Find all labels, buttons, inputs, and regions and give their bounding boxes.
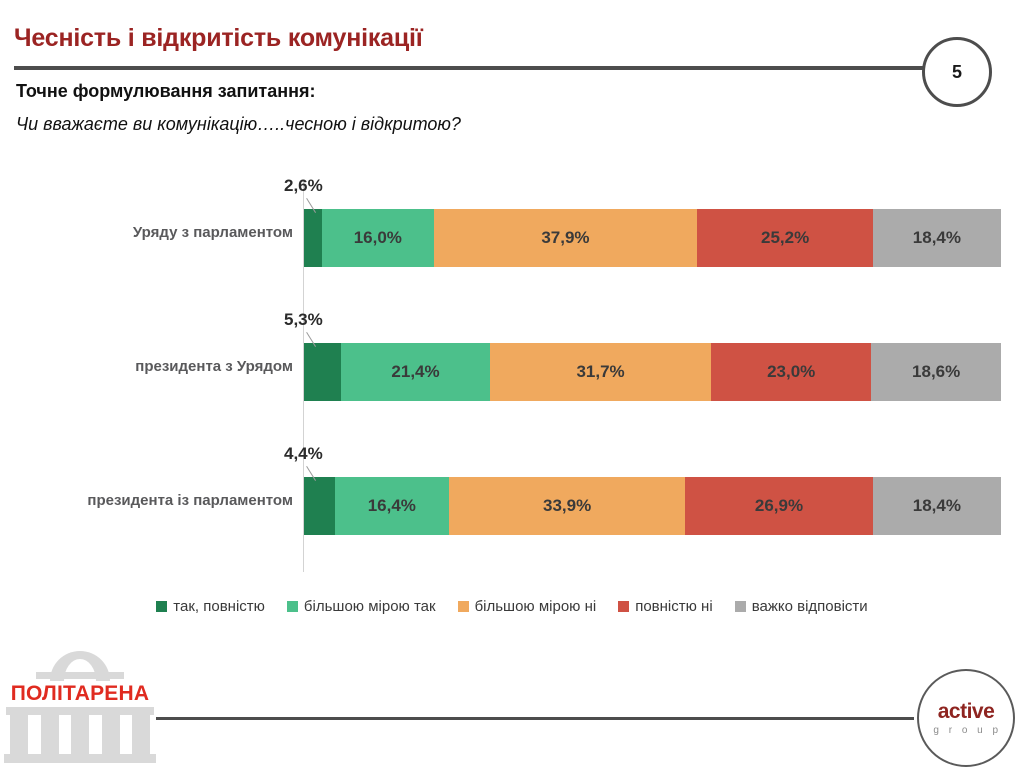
parliament-columns-icon xyxy=(10,715,150,755)
legend-label: більшою мірою ні xyxy=(475,598,597,615)
bar-row: президента з Урядом5,3%21,4%31,7%23,0%18… xyxy=(0,302,1024,436)
bar-segment: 18,6% xyxy=(871,343,1001,401)
bar-segment: 33,9% xyxy=(449,477,685,535)
bar-track: 5,3%21,4%31,7%23,0%18,6% xyxy=(304,343,1001,401)
bar-segment: 2,6% xyxy=(304,209,322,267)
page-number-badge: 5 xyxy=(922,37,992,107)
bar-category-label: президента з Урядом xyxy=(13,358,293,375)
parliament-architrave-icon xyxy=(6,707,154,715)
parliament-dome-base-icon xyxy=(36,672,124,679)
bar-callout-leader-line xyxy=(307,332,319,344)
parliament-base-icon xyxy=(4,754,156,763)
stacked-bar-chart: Уряду з парламентом2,6%16,0%37,9%25,2%18… xyxy=(0,168,1024,588)
bar-track: 2,6%16,0%37,9%25,2%18,4% xyxy=(304,209,1001,267)
legend-label: повністю ні xyxy=(635,598,712,615)
bar-callout-leader-line xyxy=(307,466,319,478)
bar-segment: 16,4% xyxy=(335,477,449,535)
bar-segment: 37,9% xyxy=(434,209,698,267)
active-group-subwordmark: g r o u p xyxy=(933,725,1001,736)
bar-callout-leader-line xyxy=(307,198,319,210)
bar-callout-label: 2,6% xyxy=(284,176,323,196)
chart-legend: так, повністюбільшою мірою такбільшою мі… xyxy=(0,598,1024,615)
bar-segment: 25,2% xyxy=(697,209,872,267)
bar-callout-label: 5,3% xyxy=(284,310,323,330)
bar-segment: 16,0% xyxy=(322,209,433,267)
legend-label: більшою мірою так xyxy=(304,598,436,615)
legend-swatch-icon xyxy=(287,601,298,612)
bar-callout-label: 4,4% xyxy=(284,444,323,464)
legend-label: так, повністю xyxy=(173,598,265,615)
footer-divider xyxy=(156,717,914,720)
bar-category-label: Уряду з парламентом xyxy=(13,224,293,241)
active-group-logo: active g r o u p xyxy=(917,669,1015,767)
bar-segment: 31,7% xyxy=(490,343,711,401)
legend-item[interactable]: більшою мірою так xyxy=(287,598,436,615)
legend-swatch-icon xyxy=(618,601,629,612)
bar-track: 4,4%16,4%33,9%26,9%18,4% xyxy=(304,477,1001,535)
bar-segment: 18,4% xyxy=(873,477,1001,535)
question-label: Точне формулювання запитання: xyxy=(16,81,315,102)
legend-item[interactable]: так, повністю xyxy=(156,598,265,615)
legend-label: важко відповісти xyxy=(752,598,868,615)
active-group-wordmark: active xyxy=(938,701,995,722)
legend-item[interactable]: важко відповісти xyxy=(735,598,868,615)
bar-segment: 4,4% xyxy=(304,477,335,535)
bar-segment: 5,3% xyxy=(304,343,341,401)
bar-segment: 26,9% xyxy=(685,477,872,535)
legend-item[interactable]: повністю ні xyxy=(618,598,712,615)
page-number-value: 5 xyxy=(952,62,962,83)
politarena-wordmark: ПОЛІТАРЕНА xyxy=(4,682,156,706)
title-divider xyxy=(14,66,926,70)
legend-swatch-icon xyxy=(458,601,469,612)
legend-item[interactable]: більшою мірою ні xyxy=(458,598,597,615)
bar-row: Уряду з парламентом2,6%16,0%37,9%25,2%18… xyxy=(0,168,1024,302)
bar-segment: 18,4% xyxy=(873,209,1001,267)
bar-segment: 23,0% xyxy=(711,343,871,401)
bar-row: президента із парламентом4,4%16,4%33,9%2… xyxy=(0,436,1024,570)
legend-swatch-icon xyxy=(735,601,746,612)
bar-segment: 21,4% xyxy=(341,343,490,401)
politarena-logo: ПОЛІТАРЕНА xyxy=(4,651,156,763)
question-text: Чи вважаєте ви комунікацію…..чесною і ві… xyxy=(16,114,461,135)
bar-category-label: президента із парламентом xyxy=(13,492,293,509)
page-title: Чесність і відкритість комунікації xyxy=(14,24,423,53)
legend-swatch-icon xyxy=(156,601,167,612)
